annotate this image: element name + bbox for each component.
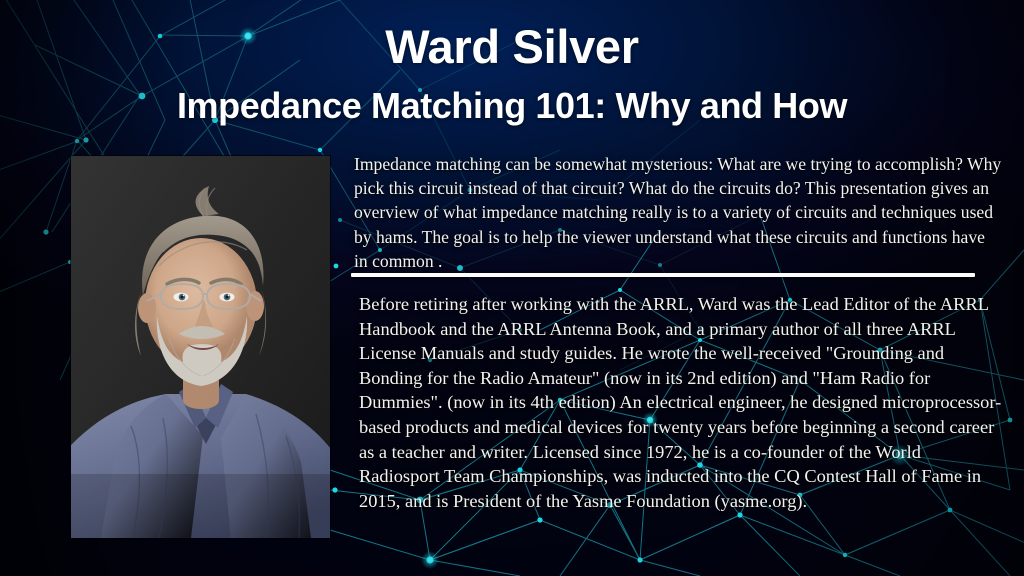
- intro-paragraph: Impedance matching can be somewhat myste…: [354, 152, 1002, 273]
- speaker-portrait-photo: [71, 156, 330, 538]
- section-divider: [351, 273, 975, 277]
- page-subtitle: Impedance Matching 101: Why and How: [0, 86, 1024, 126]
- presentation-slide: Ward Silver Impedance Matching 101: Why …: [0, 0, 1024, 576]
- biography-paragraph: Before retiring after working with the A…: [359, 292, 1004, 513]
- page-title: Ward Silver: [0, 22, 1024, 71]
